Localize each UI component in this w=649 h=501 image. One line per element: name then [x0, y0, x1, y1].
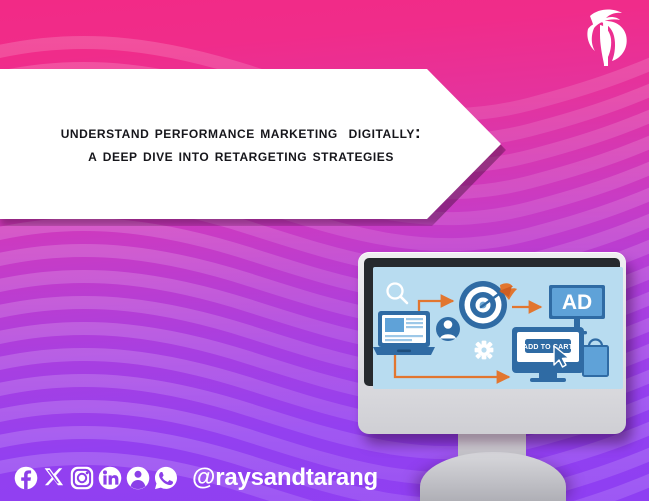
facebook-icon[interactable]	[14, 466, 38, 490]
instagram-icon[interactable]	[70, 466, 94, 490]
ad-billboard-icon: AD	[549, 285, 605, 334]
gear-icon	[475, 341, 494, 360]
ad-billboard-label: AD	[562, 291, 592, 314]
social-handle: @raysandtarang	[192, 464, 378, 492]
shopping-bag-icon	[583, 340, 608, 377]
social-icons-row	[14, 466, 178, 490]
search-icon	[388, 284, 408, 304]
monitor-illustration: AD ADD TO CART	[358, 252, 632, 442]
monitor-bezel: AD ADD TO CART	[364, 258, 620, 386]
poster-canvas: Understand Performance Marketing Digital…	[0, 0, 649, 501]
target-dartboard-icon	[459, 281, 517, 329]
user-avatar-icon	[436, 317, 460, 341]
monitor-screen: AD ADD TO CART	[373, 267, 623, 389]
linkedin-icon[interactable]	[98, 466, 122, 490]
x-twitter-icon[interactable]	[42, 466, 66, 490]
add-to-cart-label: ADD TO CART	[523, 344, 574, 351]
headline-line-1: Understand Performance Marketing Digital…	[8, 121, 474, 144]
profile-icon[interactable]	[126, 466, 150, 490]
laptop-icon	[373, 311, 435, 355]
monitor-body: AD ADD TO CART	[358, 252, 626, 434]
monitor-cart-icon: ADD TO CART	[512, 327, 584, 382]
headline-banner: Understand Performance Marketing Digital…	[0, 69, 503, 219]
social-footer: @raysandtarang	[0, 455, 649, 501]
headline-line-2: A Deep Dive into Retargeting Strategies	[8, 144, 474, 167]
t-swoosh-logo-icon	[573, 6, 637, 68]
whatsapp-icon[interactable]	[154, 466, 178, 490]
